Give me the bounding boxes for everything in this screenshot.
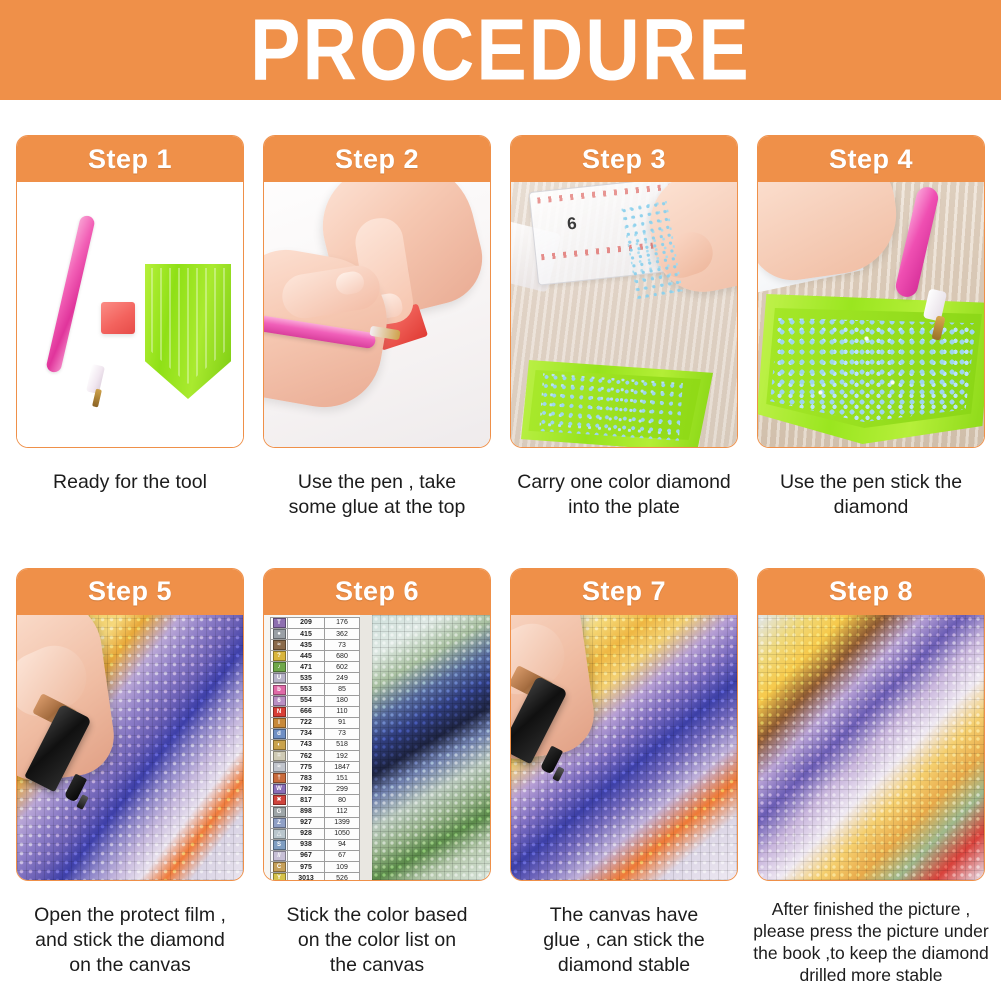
color-code-cell: 722 xyxy=(288,717,325,728)
color-swatch-icon: b xyxy=(273,685,286,695)
color-symbol-cell: † xyxy=(271,773,288,784)
color-code-cell: 927 xyxy=(288,817,325,828)
color-symbol-cell: = xyxy=(271,751,288,762)
color-symbol-cell: Z xyxy=(271,817,288,828)
blue-diamonds xyxy=(768,318,976,422)
step-cell-5: Step 5 Open the protect film , and stick… xyxy=(16,568,244,987)
list-canvas-divider xyxy=(360,615,372,880)
color-swatch-icon: // xyxy=(273,851,286,861)
step-image-5 xyxy=(17,615,243,880)
step-badge-7: Step 7 xyxy=(511,569,737,615)
step-card-8[interactable]: Step 8 xyxy=(757,568,985,881)
color-code-cell: 762 xyxy=(288,751,325,762)
step-card-6[interactable]: Step 6 T209176●415362≈43573?445680♪47160… xyxy=(263,568,491,881)
steps-row-2: Step 5 Open the protect film , and stick… xyxy=(0,568,1001,987)
color-count-cell: 112 xyxy=(325,806,360,817)
color-code-cell: 471 xyxy=(288,662,325,673)
color-swatch-icon: † xyxy=(273,773,286,783)
color-count-cell: 1050 xyxy=(325,828,360,839)
step-card-1[interactable]: Step 1 xyxy=(16,135,244,448)
color-swatch-icon: U xyxy=(273,673,286,683)
sparkle-icon xyxy=(862,334,871,343)
step-card-4[interactable]: Step 4 xyxy=(757,135,985,448)
color-list-body: T209176●415362≈43573?445680♪471602U53524… xyxy=(271,617,360,880)
color-code-cell: 445 xyxy=(288,651,325,662)
step-badge-8: Step 8 xyxy=(758,569,984,615)
step-cell-8: Step 8 After finished the picture , plea… xyxy=(757,568,985,987)
color-symbol-cell: ♪ xyxy=(271,662,288,673)
color-symbol-cell: ? xyxy=(271,651,288,662)
color-list-row: I72291 xyxy=(271,717,360,728)
pink-pen-icon xyxy=(45,214,96,373)
page-header-banner: PROCEDURE xyxy=(0,0,1001,100)
color-swatch-icon: N xyxy=(273,707,286,717)
color-count-cell: 80 xyxy=(325,795,360,806)
color-count-cell: 180 xyxy=(325,695,360,706)
color-list-row: △9281050 xyxy=(271,828,360,839)
color-list-row: W792299 xyxy=(271,784,360,795)
color-symbol-cell: ✖ xyxy=(271,795,288,806)
step-cell-7: Step 7 The canvas have glue , can stick … xyxy=(510,568,738,987)
color-count-cell: 110 xyxy=(325,706,360,717)
color-list-row: S93894 xyxy=(271,839,360,850)
color-swatch-icon: ✖ xyxy=(273,795,286,805)
color-swatch-icon: 6 xyxy=(273,696,286,706)
color-list-row: ✖81780 xyxy=(271,795,360,806)
color-swatch-icon: Z xyxy=(273,818,286,828)
step-cell-1: Step 1 Ready for the tool xyxy=(16,135,244,520)
color-swatch-icon: ≈ xyxy=(273,640,286,650)
step-badge-1: Step 1 xyxy=(17,136,243,182)
step-badge-2: Step 2 xyxy=(264,136,490,182)
color-swatch-icon: ◐ xyxy=(273,740,286,750)
color-code-cell: 3013 xyxy=(288,873,325,880)
color-count-cell: 73 xyxy=(325,640,360,651)
color-list-row: ≈7751847 xyxy=(271,762,360,773)
color-count-cell: 680 xyxy=(325,651,360,662)
step-image-7 xyxy=(511,615,737,880)
color-code-cell: 967 xyxy=(288,850,325,861)
color-symbol-cell: W xyxy=(271,784,288,795)
color-count-cell: 1399 xyxy=(325,817,360,828)
step-caption-6: Stick the color based on the color list … xyxy=(257,903,497,978)
color-count-cell: 94 xyxy=(325,839,360,850)
color-count-cell: 73 xyxy=(325,728,360,739)
color-code-cell: 734 xyxy=(288,728,325,739)
color-code-cell: 898 xyxy=(288,806,325,817)
step-image-2 xyxy=(264,182,490,447)
color-symbol-cell: C xyxy=(271,861,288,872)
color-swatch-icon: d xyxy=(273,729,286,739)
scene-color-list: T209176●415362≈43573?445680♪471602U53524… xyxy=(264,615,490,880)
color-swatch-icon: ? xyxy=(273,651,286,661)
procedure-infographic: PROCEDURE Step 1 xyxy=(0,0,1001,1001)
step-badge-5: Step 5 xyxy=(17,569,243,615)
step-caption-3: Carry one color diamond into the plate xyxy=(504,470,744,520)
step-image-8 xyxy=(758,615,984,880)
color-swatch-icon: ♪ xyxy=(273,662,286,672)
color-swatch-icon: W xyxy=(273,784,286,794)
color-symbol-cell: I xyxy=(271,717,288,728)
step-caption-8: After finished the picture , please pres… xyxy=(745,899,997,987)
color-symbol-cell: // xyxy=(271,850,288,861)
color-code-cell: 975 xyxy=(288,861,325,872)
color-list-row: U535249 xyxy=(271,673,360,684)
color-count-cell: 85 xyxy=(325,684,360,695)
color-symbol-cell: G xyxy=(271,806,288,817)
glue-block-icon xyxy=(101,302,135,334)
color-count-cell: 192 xyxy=(325,751,360,762)
step-badge-6: Step 6 xyxy=(264,569,490,615)
color-symbol-cell: 6 xyxy=(271,695,288,706)
color-symbol-cell: b xyxy=(271,684,288,695)
step-card-7[interactable]: Step 7 xyxy=(510,568,738,881)
color-list-table: T209176●415362≈43573?445680♪471602U53524… xyxy=(270,617,360,880)
color-count-cell: 362 xyxy=(325,629,360,640)
color-code-cell: 928 xyxy=(288,828,325,839)
diamond-canvas xyxy=(372,615,490,880)
color-count-cell: 109 xyxy=(325,861,360,872)
color-list-row: N666110 xyxy=(271,706,360,717)
color-code-cell: 743 xyxy=(288,739,325,750)
color-count-cell: 299 xyxy=(325,784,360,795)
canvas-area xyxy=(372,615,490,880)
color-count-cell: 67 xyxy=(325,850,360,861)
color-list-row: ≈43573 xyxy=(271,640,360,651)
color-list-row: 6554180 xyxy=(271,695,360,706)
color-symbol-cell: ≈ xyxy=(271,640,288,651)
color-count-cell: 176 xyxy=(325,617,360,628)
color-list-row: †783151 xyxy=(271,773,360,784)
color-list-row: Y3013526 xyxy=(271,873,360,880)
color-code-cell: 666 xyxy=(288,706,325,717)
color-count-cell: 526 xyxy=(325,873,360,880)
color-list-row: G898112 xyxy=(271,806,360,817)
color-symbol-cell: ● xyxy=(271,629,288,640)
step-image-6: T209176●415362≈43573?445680♪471602U53524… xyxy=(264,615,490,880)
color-list-row: T209176 xyxy=(271,617,360,628)
color-code-cell: 938 xyxy=(288,839,325,850)
color-code-cell: 775 xyxy=(288,762,325,773)
step-caption-1: Ready for the tool xyxy=(10,470,250,495)
color-count-cell: 91 xyxy=(325,717,360,728)
scene-pen-pickup xyxy=(758,182,984,447)
color-swatch-icon: T xyxy=(273,618,286,628)
steps-row-1: Step 1 Ready for the tool xyxy=(0,135,1001,520)
color-code-cell: 435 xyxy=(288,640,325,651)
color-list-row: d73473 xyxy=(271,728,360,739)
color-code-cell: 415 xyxy=(288,629,325,640)
step-card-2[interactable]: Step 2 xyxy=(263,135,491,448)
color-list-row: C975109 xyxy=(271,861,360,872)
step-card-3[interactable]: Step 3 6 xyxy=(510,135,738,448)
color-code-cell: 553 xyxy=(288,684,325,695)
color-code-cell: 792 xyxy=(288,784,325,795)
color-swatch-icon: △ xyxy=(273,829,286,839)
color-list-row: //96767 xyxy=(271,850,360,861)
step-image-3: 6 xyxy=(511,182,737,447)
color-list-row: =762192 xyxy=(271,751,360,762)
color-list-row: Z9271399 xyxy=(271,817,360,828)
color-list-row: ◐743518 xyxy=(271,739,360,750)
blue-diamonds xyxy=(539,373,683,441)
step-badge-3: Step 3 xyxy=(511,136,737,182)
scene-hands-glue xyxy=(264,182,490,447)
color-symbol-cell: d xyxy=(271,728,288,739)
sparkle-icon xyxy=(816,388,825,397)
scene-pour-diamonds: 6 xyxy=(511,182,737,447)
sparkle-icon xyxy=(888,378,897,387)
finished-diamond-picture xyxy=(758,615,984,880)
page-title: PROCEDURE xyxy=(250,6,751,93)
color-code-cell: 535 xyxy=(288,673,325,684)
steps-grid: Step 1 Ready for the tool xyxy=(0,100,1001,986)
color-list-row: ●415362 xyxy=(271,629,360,640)
step-cell-4: Step 4 xyxy=(757,135,985,520)
color-swatch-icon: ● xyxy=(273,629,286,639)
color-symbol-cell: ≈ xyxy=(271,762,288,773)
color-swatch-icon: C xyxy=(273,862,286,872)
color-swatch-icon: I xyxy=(273,718,286,728)
color-code-cell: 817 xyxy=(288,795,325,806)
color-list-row: ?445680 xyxy=(271,651,360,662)
color-code-cell: 783 xyxy=(288,773,325,784)
color-symbol-cell: T xyxy=(271,617,288,628)
color-list-row: b55385 xyxy=(271,684,360,695)
color-symbol-cell: △ xyxy=(271,828,288,839)
step-caption-5: Open the protect film , and stick the di… xyxy=(10,903,250,978)
color-symbol-cell: ◐ xyxy=(271,739,288,750)
color-code-cell: 554 xyxy=(288,695,325,706)
color-count-cell: 602 xyxy=(325,662,360,673)
color-symbol-cell: N xyxy=(271,706,288,717)
step-cell-6: Step 6 T209176●415362≈43573?445680♪47160… xyxy=(263,568,491,987)
color-count-cell: 151 xyxy=(325,773,360,784)
step-image-1 xyxy=(17,182,243,447)
step-cell-2: Step 2 xyxy=(263,135,491,520)
color-swatch-icon: Y xyxy=(273,873,286,880)
color-swatch-icon: S xyxy=(273,840,286,850)
color-list-panel: T209176●415362≈43573?445680♪471602U53524… xyxy=(264,615,360,880)
color-swatch-icon: ≈ xyxy=(273,762,286,772)
step-caption-7: The canvas have glue , can stick the dia… xyxy=(504,903,744,978)
step-badge-4: Step 4 xyxy=(758,136,984,182)
color-count-cell: 1847 xyxy=(325,762,360,773)
color-symbol-cell: U xyxy=(271,673,288,684)
color-count-cell: 249 xyxy=(325,673,360,684)
step-cell-3: Step 3 6 xyxy=(510,135,738,520)
color-swatch-icon: = xyxy=(273,751,286,761)
color-count-cell: 518 xyxy=(325,739,360,750)
step-image-4 xyxy=(758,182,984,447)
color-code-cell: 209 xyxy=(288,617,325,628)
color-symbol-cell: Y xyxy=(271,873,288,880)
color-swatch-icon: G xyxy=(273,807,286,817)
color-list-row: ♪471602 xyxy=(271,662,360,673)
scene-tool-kit xyxy=(17,182,243,447)
color-symbol-cell: S xyxy=(271,839,288,850)
step-caption-2: Use the pen , take some glue at the top xyxy=(257,470,497,520)
step-card-5[interactable]: Step 5 xyxy=(16,568,244,881)
step-caption-4: Use the pen stick the diamond xyxy=(751,470,991,520)
